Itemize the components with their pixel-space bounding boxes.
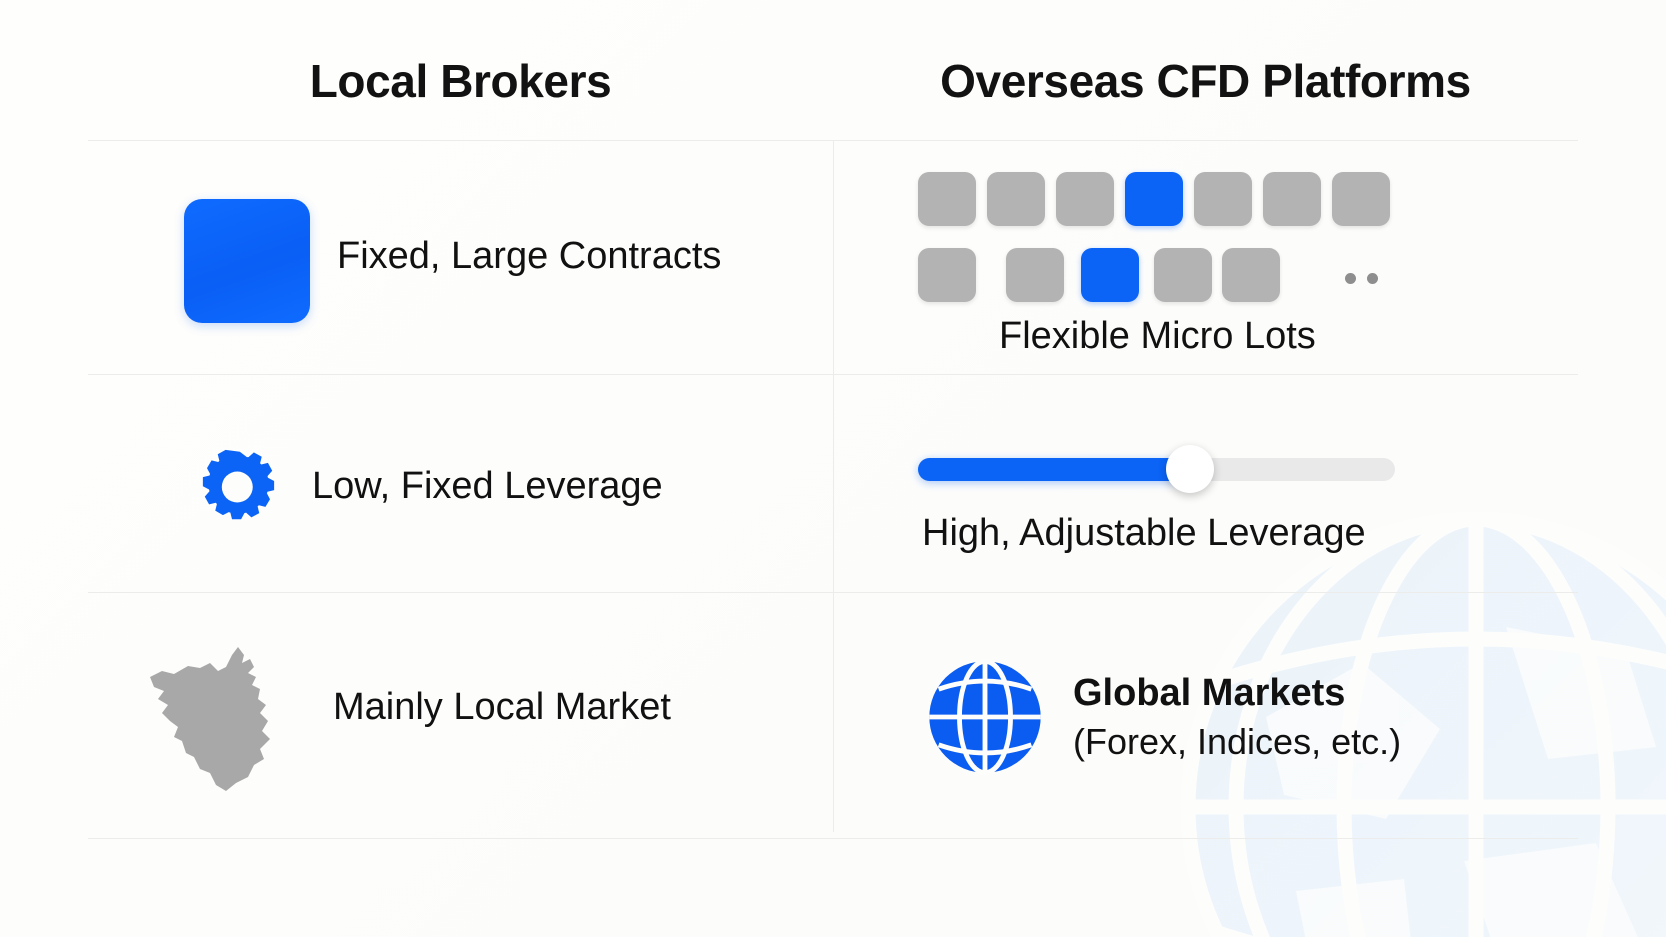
leverage-slider-fill (918, 458, 1190, 481)
micro-lot-cell-active[interactable] (1081, 248, 1139, 302)
large-blue-square-icon (184, 199, 310, 323)
micro-lot-cell-active[interactable] (1125, 172, 1183, 226)
map-silhouette-icon (148, 641, 308, 793)
column-header-local-brokers: Local Brokers (88, 46, 833, 116)
overflow-dot (1345, 273, 1356, 284)
comparison-infographic: Local Brokers Overseas CFD Platforms Fix… (0, 0, 1666, 937)
micro-lot-cell[interactable] (1332, 172, 1390, 226)
row-leverage-right-label: High, Adjustable Leverage (922, 512, 1366, 555)
micro-lot-cell[interactable] (1263, 172, 1321, 226)
micro-lot-cell[interactable] (1154, 248, 1212, 302)
column-header-overseas-cfd: Overseas CFD Platforms (833, 46, 1578, 116)
micro-lot-cell[interactable] (987, 172, 1045, 226)
row-contract-size-left-label: Fixed, Large Contracts (337, 235, 721, 278)
divider-bottom (88, 838, 1578, 839)
micro-lot-cell[interactable] (1006, 248, 1064, 302)
row-leverage-left-label: Low, Fixed Leverage (312, 465, 663, 508)
divider-between-columns (833, 140, 834, 832)
row-market-right-text: Global Markets (Forex, Indices, etc.) (1073, 672, 1401, 763)
leverage-slider-thumb[interactable] (1166, 445, 1214, 493)
micro-lot-cell[interactable] (918, 248, 976, 302)
micro-lot-cell[interactable] (1056, 172, 1114, 226)
row-market-right-sublabel: (Forex, Indices, etc.) (1073, 721, 1401, 763)
row-market-left-label: Mainly Local Market (333, 686, 671, 729)
micro-lot-cell[interactable] (1194, 172, 1252, 226)
row-contract-size-right-label: Flexible Micro Lots (999, 315, 1316, 358)
micro-lot-cell[interactable] (918, 172, 976, 226)
overflow-dot (1367, 273, 1378, 284)
row-market-right-label: Global Markets (1073, 672, 1401, 715)
leverage-slider[interactable] (918, 458, 1395, 481)
globe-icon (927, 656, 1043, 778)
micro-lot-cell[interactable] (1222, 248, 1280, 302)
gear-icon (196, 444, 282, 530)
